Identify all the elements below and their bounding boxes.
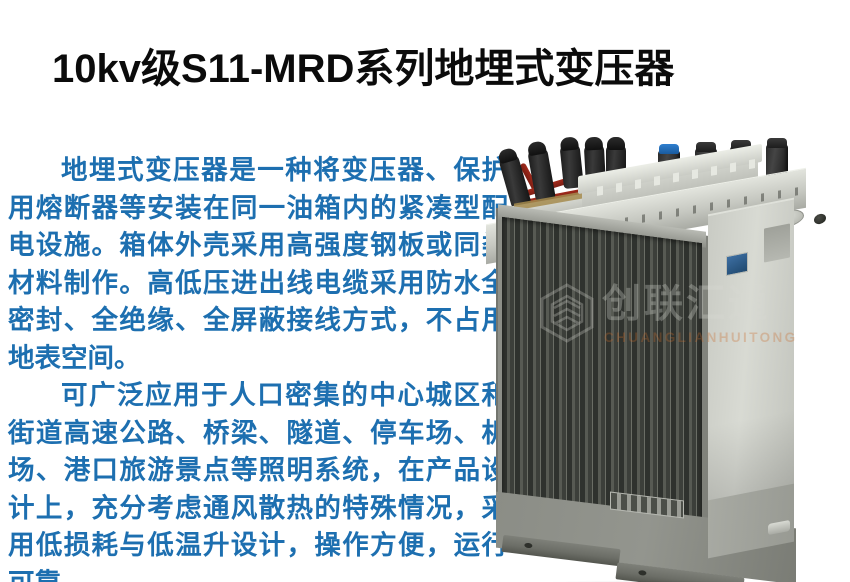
side-nameplate bbox=[726, 252, 748, 276]
radiator-fin-pack bbox=[502, 217, 702, 533]
product-image-canvas: 10kv级S11-MRD系列地埋式变压器 地埋式变压器是一种将变压器、保护用熔断… bbox=[0, 0, 850, 582]
tap-changer-knob bbox=[814, 213, 826, 225]
side-lifting-handle bbox=[764, 223, 790, 262]
description-paragraph-1: 地埋式变压器是一种将变压器、保护用熔断器等安装在同一油箱内的紧凑型配电设施。箱体… bbox=[8, 152, 508, 377]
product-description: 地埋式变压器是一种将变压器、保护用熔断器等安装在同一油箱内的紧凑型配电设施。箱体… bbox=[8, 152, 508, 582]
skid-bolt-hole bbox=[638, 570, 647, 576]
skid-bolt-hole bbox=[524, 543, 533, 549]
page-title: 10kv级S11-MRD系列地埋式变压器 bbox=[52, 49, 792, 89]
product-photo bbox=[468, 118, 850, 582]
description-paragraph-2: 可广泛应用于人口密集的中心城区和街道高速公路、桥梁、隧道、停车场、机场、港口旅游… bbox=[8, 377, 508, 582]
